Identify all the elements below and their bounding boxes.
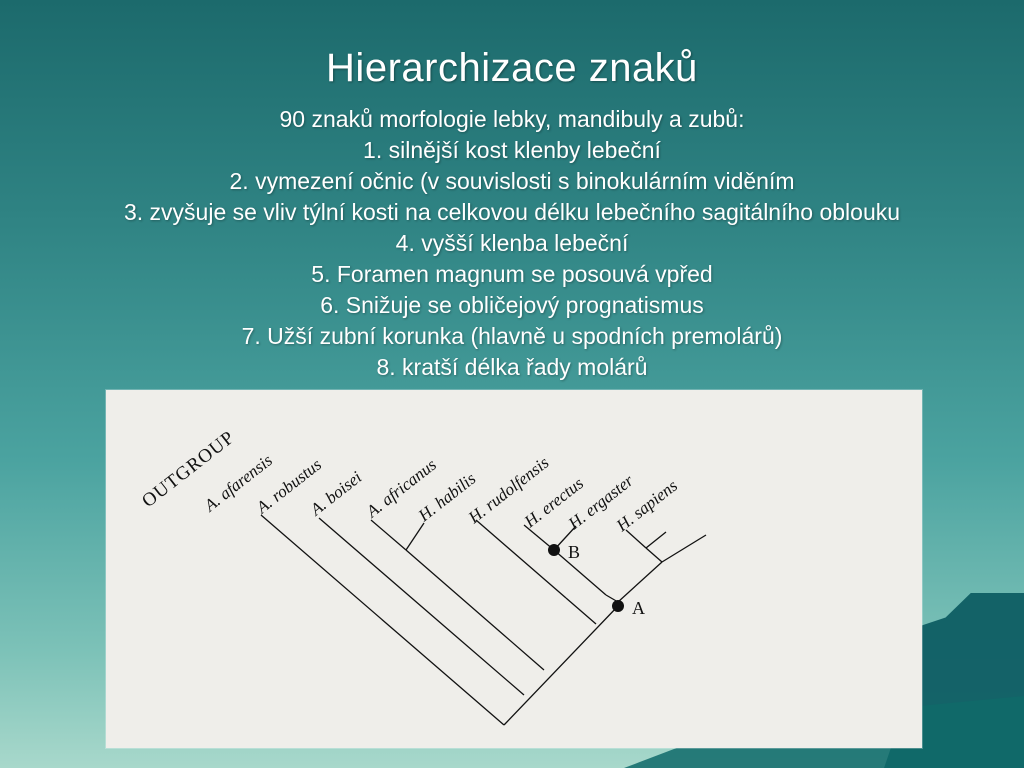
list-item: 5. Foramen magnum se posouvá vpřed <box>0 259 1024 290</box>
list-item: 1. silnější kost klenby lebeční <box>0 135 1024 166</box>
cladogram-branches <box>261 515 706 725</box>
node-label-b: B <box>568 542 580 562</box>
list-item: 2. vymezení očnic (v souvislosti s binok… <box>0 166 1024 197</box>
list-item: 3. zvyšuje se vliv týlní kosti na celkov… <box>0 197 1024 228</box>
cladogram-figure: A B OUTGROUP A. afarensis A. robustus A.… <box>106 390 922 748</box>
node-dot-b <box>548 544 560 556</box>
slide: Hierarchizace znaků 90 znaků morfologie … <box>0 0 1024 768</box>
list-item: 90 znaků morfologie lebky, mandibuly a z… <box>0 104 1024 135</box>
list-item: 8. kratší délka řady molárů <box>0 352 1024 383</box>
node-label-a: A <box>632 598 645 618</box>
list-item: 6. Snižuje se obličejový prognatismus <box>0 290 1024 321</box>
node-dot-a <box>612 600 624 612</box>
bullet-list: 90 znaků morfologie lebky, mandibuly a z… <box>0 104 1024 383</box>
cladogram-svg: A B OUTGROUP A. afarensis A. robustus A.… <box>106 390 922 748</box>
list-item: 4. vyšší klenba lebeční <box>0 228 1024 259</box>
list-item: 7. Užší zubní korunka (hlavně u spodních… <box>0 321 1024 352</box>
page-title: Hierarchizace znaků <box>0 44 1024 92</box>
